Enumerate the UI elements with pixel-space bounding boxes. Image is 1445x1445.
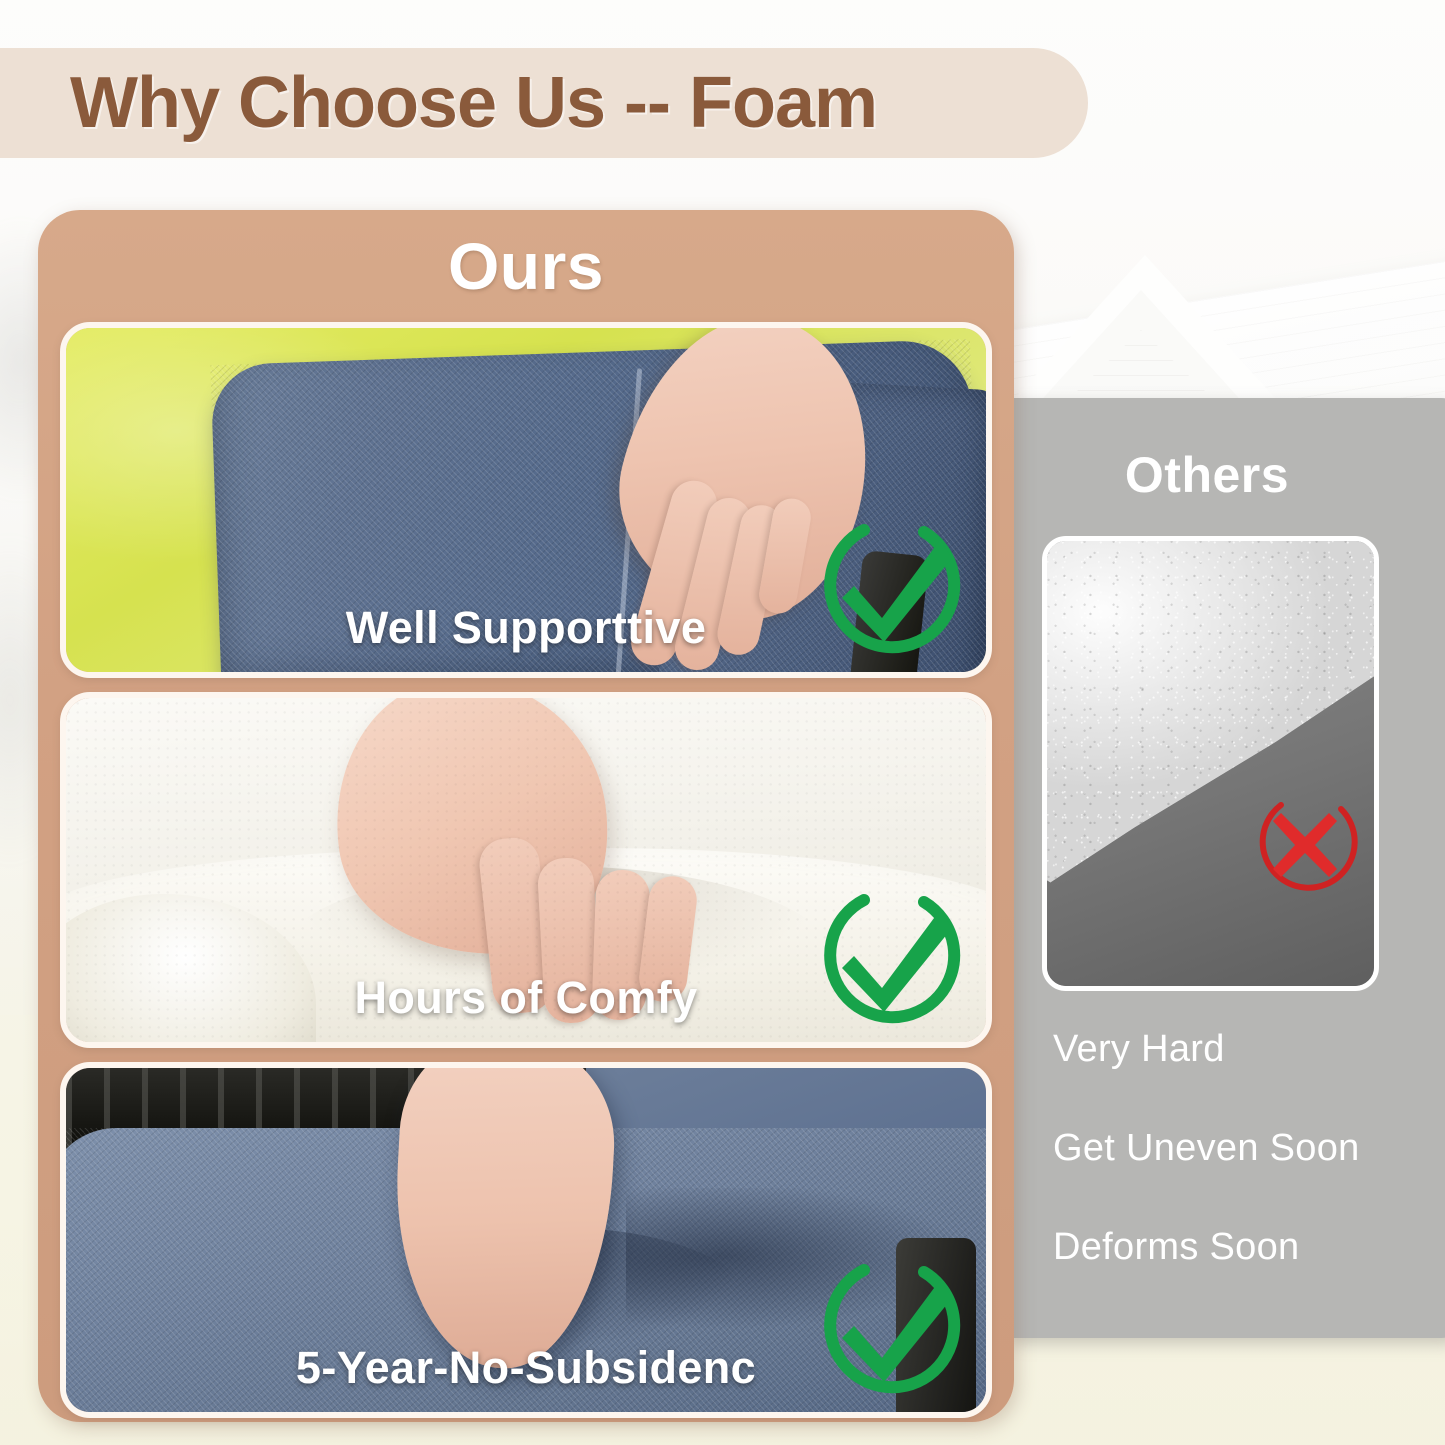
x-circle-icon: [1245, 783, 1365, 903]
check-circle-icon: [820, 884, 968, 1032]
others-title: Others: [1007, 446, 1407, 504]
page-title: Why Choose Us -- Foam: [70, 62, 877, 144]
ours-benefit-card: 5-Year-No-Subsidenc: [60, 1062, 992, 1418]
check-circle-icon: [820, 514, 968, 662]
header-banner: Why Choose Us -- Foam: [0, 48, 1088, 158]
ours-title: Ours: [60, 210, 992, 322]
ours-panel: Ours Well Supporttive: [38, 210, 1014, 1422]
ours-benefit-card: Well Supporttive: [60, 322, 992, 678]
others-drawback-list: Very Hard Get Uneven Soon Deforms Soon: [1053, 1028, 1445, 1325]
others-list-item: Deforms Soon: [1053, 1226, 1445, 1269]
check-circle-icon: [820, 1254, 968, 1402]
others-panel: Others Very Hard Get Uneven Soon Deforms…: [1007, 398, 1445, 1338]
others-foam-photo: [1042, 536, 1379, 991]
others-list-item: Get Uneven Soon: [1053, 1127, 1445, 1170]
ours-benefit-card: Hours of Comfy: [60, 692, 992, 1048]
others-list-item: Very Hard: [1053, 1028, 1445, 1071]
